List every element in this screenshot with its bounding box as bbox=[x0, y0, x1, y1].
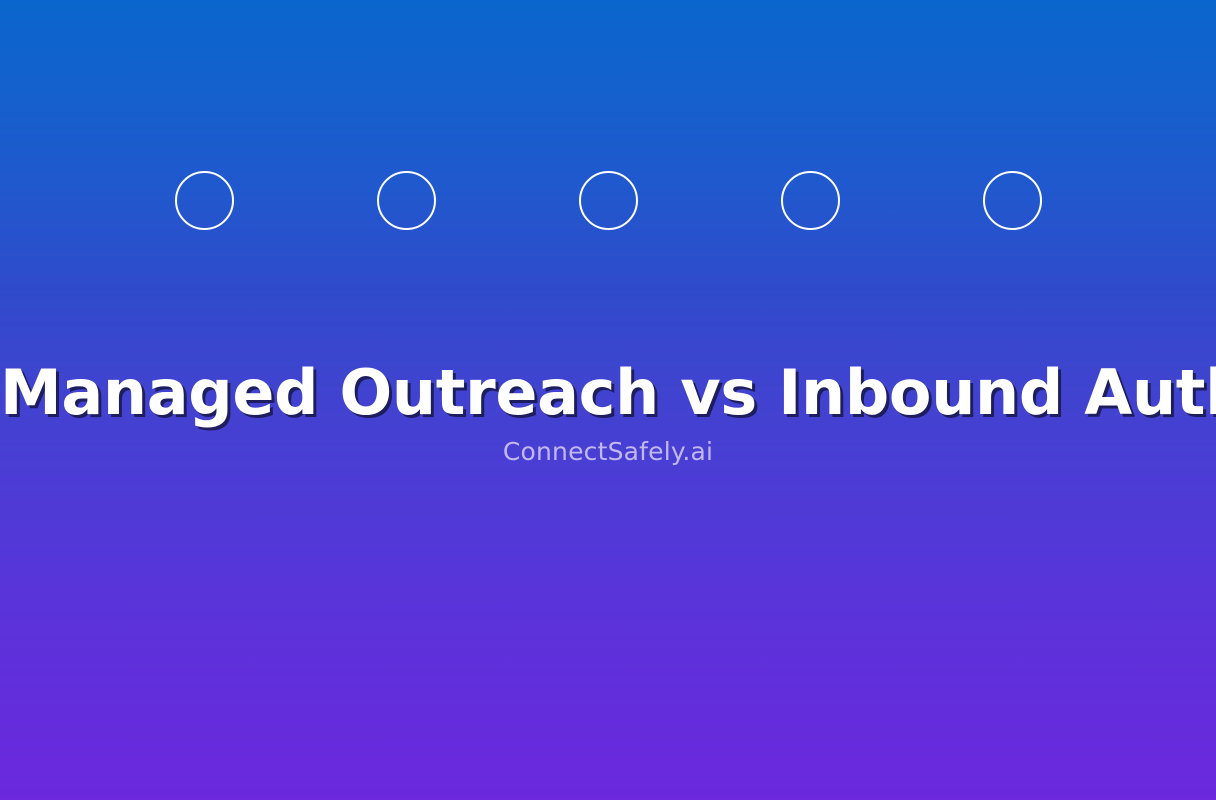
circle-outline-icon bbox=[983, 171, 1042, 230]
circle-outline-icon bbox=[377, 171, 436, 230]
circle-outline-icon bbox=[579, 171, 638, 230]
decorative-circle-row bbox=[0, 170, 1216, 230]
slide-subtitle: ConnectSafely.ai bbox=[0, 437, 1216, 467]
slide-title: Managed Outreach vs Inbound Authority bbox=[0, 360, 1216, 425]
headline-block: Managed Outreach vs Inbound Authority Co… bbox=[0, 360, 1216, 467]
circle-outline-icon bbox=[175, 171, 234, 230]
circle-outline-icon bbox=[781, 171, 840, 230]
title-slide: Managed Outreach vs Inbound Authority Co… bbox=[0, 0, 1216, 800]
